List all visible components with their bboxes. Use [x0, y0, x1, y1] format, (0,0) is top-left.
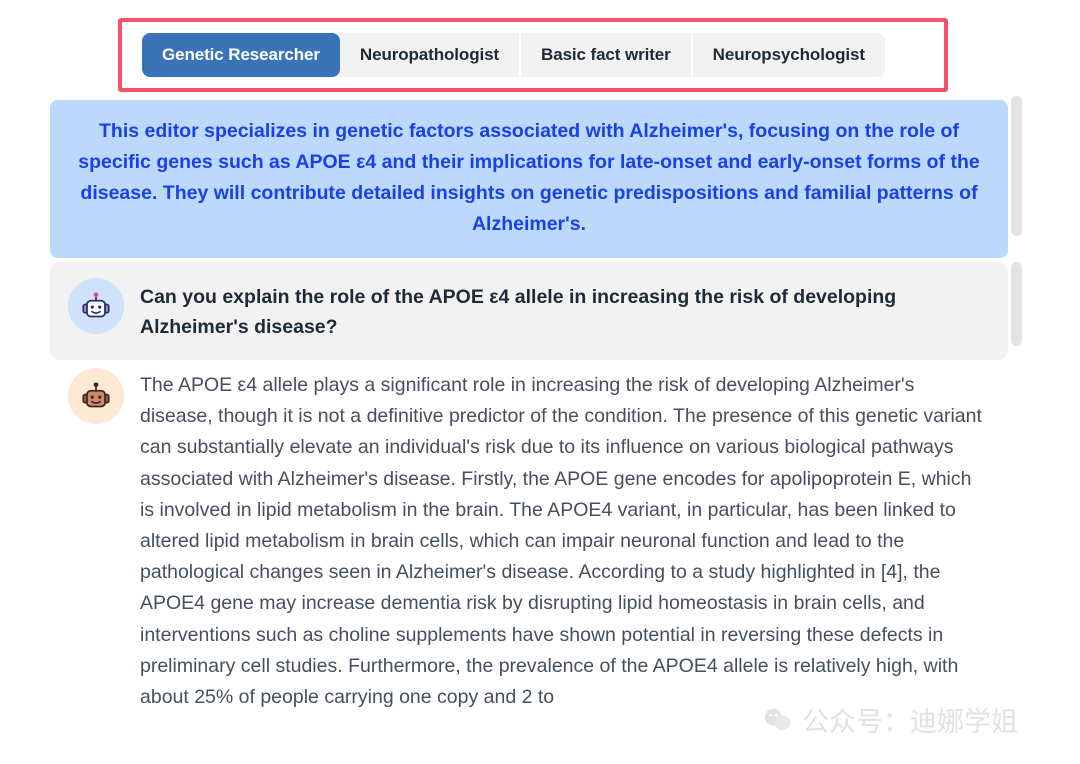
- tab-label: Neuropsychologist: [713, 45, 865, 65]
- message-question: Can you explain the role of the APOE ε4 …: [50, 262, 1008, 360]
- tab-neuropathologist[interactable]: Neuropathologist: [340, 33, 521, 77]
- tab-basic-fact-writer[interactable]: Basic fact writer: [521, 33, 693, 77]
- banner-text: This editor specializes in genetic facto…: [78, 120, 979, 235]
- tab-neuropsychologist[interactable]: Neuropsychologist: [693, 33, 885, 77]
- answer-text: The APOE ε4 allele plays a significant r…: [140, 368, 990, 713]
- tab-label: Genetic Researcher: [162, 45, 320, 65]
- question-text: Can you explain the role of the APOE ε4 …: [140, 278, 990, 342]
- app-root: Genetic Researcher Neuropathologist Basi…: [0, 0, 1080, 764]
- message-answer: The APOE ε4 allele plays a significant r…: [50, 360, 1008, 713]
- tab-genetic-researcher[interactable]: Genetic Researcher: [142, 33, 340, 77]
- editor-description-banner: This editor specializes in genetic facto…: [50, 100, 1008, 258]
- editor-role-tabbar: Genetic Researcher Neuropathologist Basi…: [142, 33, 885, 77]
- robot-avatar-peach-icon: [68, 368, 124, 424]
- scrollbar-banner[interactable]: [1011, 96, 1022, 236]
- scrollbar-question[interactable]: [1011, 262, 1022, 346]
- tab-label: Neuropathologist: [360, 45, 499, 65]
- robot-avatar-blue-icon: [68, 278, 124, 334]
- tab-label: Basic fact writer: [541, 45, 671, 65]
